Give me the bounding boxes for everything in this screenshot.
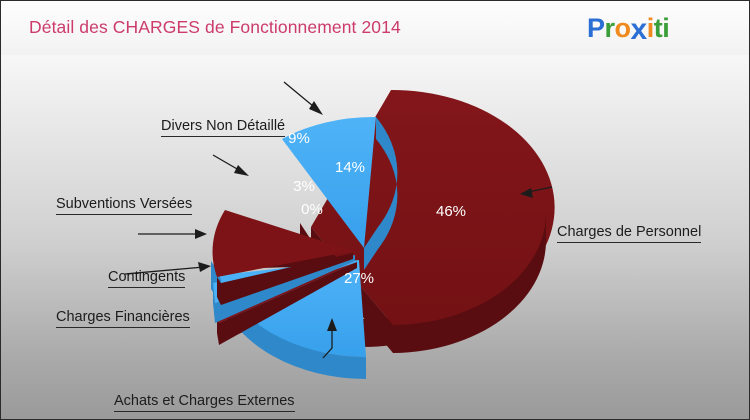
callout-label-achats-et-charges-externes: Achats et Charges Externes <box>114 393 295 412</box>
proxiti-logo[interactable]: Proxiti <box>587 11 669 45</box>
pie-chart-plot-area: 46% 27% 0% 3% 9% 14% <box>1 55 749 419</box>
chart-header: Détail des CHARGES de Fonctionnement 201… <box>1 1 749 55</box>
callout-label-divers-non-detaille: Divers Non Détaillé <box>161 118 285 137</box>
arrowhead-divers <box>309 101 323 115</box>
logo-letter-x: x <box>631 13 647 47</box>
chart-container: Détail des CHARGES de Fonctionnement 201… <box>0 0 750 420</box>
logo-letter-o: o <box>615 13 631 44</box>
callout-label-subventions-versees: Subventions Versées <box>56 196 192 215</box>
callout-label-contingents: Contingents <box>108 269 185 288</box>
value-label-divers: 14% <box>335 159 365 176</box>
page-title: Détail des CHARGES de Fonctionnement 201… <box>29 17 401 38</box>
arrowhead-subventions <box>234 165 249 176</box>
value-label-contingents: 3% <box>293 178 315 195</box>
logo-letter-p: P <box>587 13 605 44</box>
arrowhead-contingents <box>195 229 207 239</box>
logo-letter-t: t <box>654 13 663 44</box>
logo-letter-i-second: i <box>662 13 669 44</box>
value-label-subventions: 9% <box>288 130 310 147</box>
value-label-personnel: 46% <box>436 203 466 220</box>
logo-letter-r: r <box>605 13 615 44</box>
value-label-achats: 27% <box>344 270 374 287</box>
value-label-charges-financieres: 0% <box>301 201 323 218</box>
callout-label-charges-financieres: Charges Financières <box>56 309 190 328</box>
logo-letter-i-first: i <box>647 13 654 44</box>
callout-label-charges-de-personnel: Charges de Personnel <box>557 224 701 243</box>
